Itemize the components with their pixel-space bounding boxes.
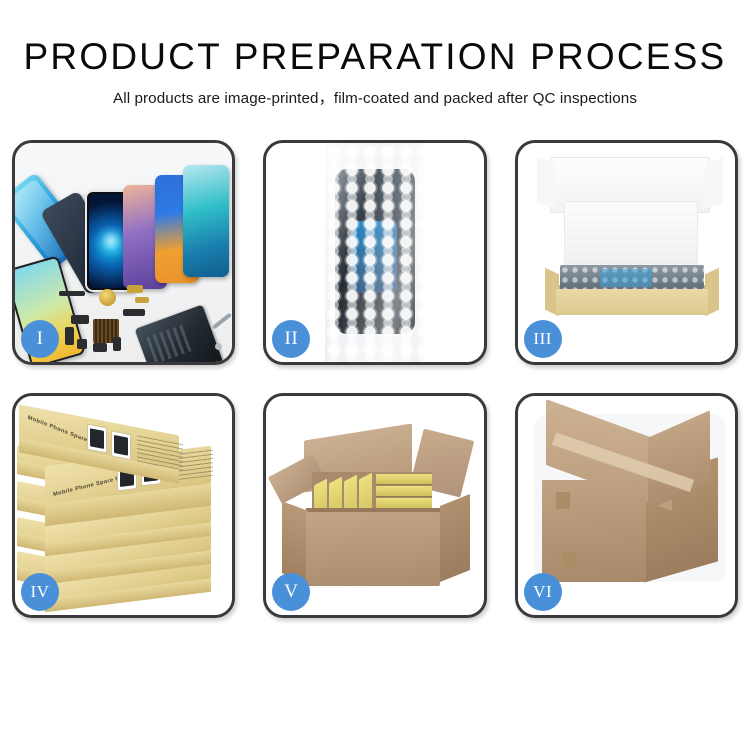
process-step-grid: I II: [12, 140, 738, 618]
process-step-panel-1[interactable]: I: [12, 140, 235, 365]
blue-screen-highlight: [600, 269, 652, 287]
bracket-part: [127, 285, 143, 293]
vibrator-part: [77, 339, 87, 349]
inner-box-6: [376, 486, 432, 496]
step-badge-4: IV: [21, 573, 59, 611]
process-step-panel-5[interactable]: V: [263, 393, 486, 618]
speaker-coil-part: [99, 289, 116, 306]
earpiece-part: [59, 291, 85, 296]
page-header: PRODUCT PREPARATION PROCESS All products…: [0, 0, 750, 110]
camera-module-part: [93, 343, 107, 352]
process-step-panel-2[interactable]: II: [263, 140, 486, 365]
screw-plate-part: [135, 297, 149, 303]
screw-part: [215, 343, 222, 350]
inner-box-5: [376, 474, 432, 484]
antenna-strip-part: [123, 309, 145, 316]
tweezer-tool: [212, 313, 232, 330]
box-front-wall: [556, 289, 708, 315]
process-step-row-top: I II: [12, 140, 738, 365]
process-step-panel-6[interactable]: VI: [515, 393, 738, 618]
carton-front-wall: [306, 512, 440, 586]
carton-left-wall: [282, 501, 308, 582]
step-badge-3: III: [524, 320, 562, 358]
process-step-panel-4[interactable]: Mobile Phone Spare Parts Mobile Phone Sp…: [12, 393, 235, 618]
inner-box-7: [376, 498, 432, 508]
carton-stamp-upper: [556, 492, 570, 509]
step-badge-6: VI: [524, 573, 562, 611]
sim-tray-part: [113, 337, 121, 351]
carton-right-wall: [440, 494, 470, 582]
carton-stamp-lower: [562, 552, 576, 569]
logic-board-part: [135, 305, 224, 362]
process-step-panel-3[interactable]: III: [515, 140, 738, 365]
page-title: PRODUCT PREPARATION PROCESS: [0, 35, 750, 79]
process-step-row-bottom: Mobile Phone Spare Parts Mobile Phone Sp…: [12, 393, 738, 618]
flex-cable-part: [71, 315, 89, 324]
step-badge-1: I: [21, 320, 59, 358]
plastic-sheen-overlay: [325, 143, 425, 362]
product-preparation-process-page: PRODUCT PREPARATION PROCESS All products…: [0, 0, 750, 750]
page-subtitle: All products are image-printed，film-coat…: [0, 88, 750, 110]
foam-sheet: [564, 201, 698, 269]
phone-teal-display: [183, 165, 229, 277]
side-button-part: [65, 327, 74, 345]
